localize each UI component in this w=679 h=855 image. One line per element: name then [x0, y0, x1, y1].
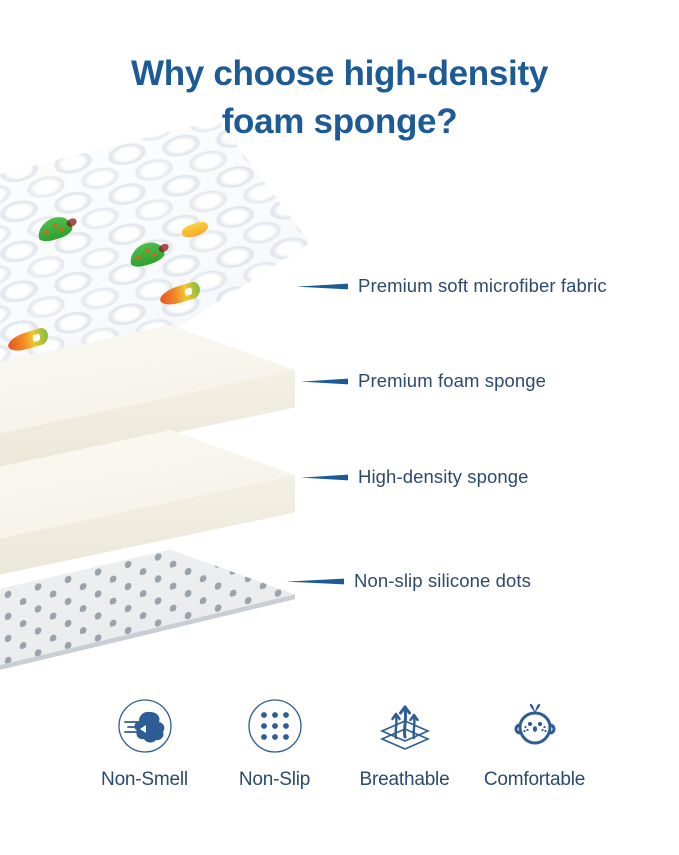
- leader-line-icon: [296, 283, 348, 290]
- callout-label: Non-slip silicone dots: [354, 570, 531, 592]
- callout-label: High-density sponge: [358, 466, 529, 488]
- feature-comfortable: Comfortable: [470, 695, 600, 791]
- page-title-line-1: Why choose high-density: [0, 50, 679, 98]
- page-title-line-2: foam sponge?: [0, 98, 679, 146]
- callout-microfiber-fabric: Premium soft microfiber fabric: [296, 275, 607, 297]
- feature-label: Non-Slip: [239, 769, 310, 791]
- leader-line-icon: [301, 378, 348, 385]
- feature-label: Comfortable: [484, 769, 585, 791]
- feature-label: Non-Smell: [101, 769, 188, 791]
- leader-line-icon: [286, 578, 344, 585]
- callout-label: Premium foam sponge: [358, 370, 546, 392]
- leader-line-icon: [301, 474, 348, 481]
- dot-grid-icon: [244, 695, 306, 757]
- odor-waves-icon: [114, 695, 176, 757]
- feature-breathable: Breathable: [340, 695, 470, 791]
- airflow-layers-icon: [374, 695, 436, 757]
- baby-face-icon: [504, 695, 566, 757]
- callout-silicone-dots: Non-slip silicone dots: [286, 570, 531, 592]
- callout-premium-foam-sponge: Premium foam sponge: [301, 370, 546, 392]
- feature-label: Breathable: [360, 769, 450, 791]
- callout-label: Premium soft microfiber fabric: [358, 275, 607, 297]
- page-title: Why choose high-density foam sponge?: [0, 50, 679, 146]
- feature-non-smell: Non-Smell: [80, 695, 210, 791]
- layered-mattress-illustration: [0, 140, 330, 700]
- feature-non-slip: Non-Slip: [210, 695, 340, 791]
- feature-row: Non-Smell Non-Slip: [0, 695, 679, 791]
- callout-high-density-sponge: High-density sponge: [301, 466, 529, 488]
